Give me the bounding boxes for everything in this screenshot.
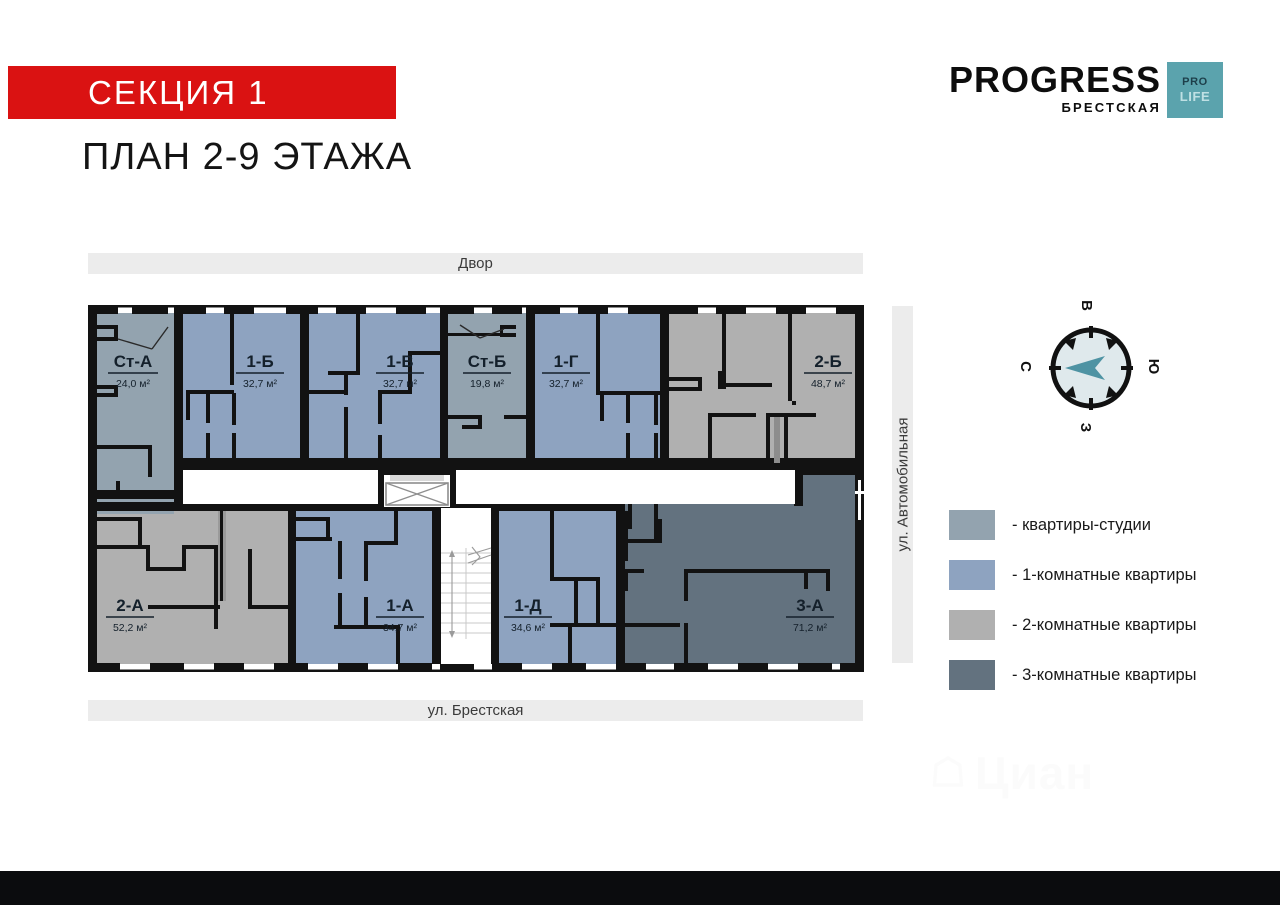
floor-plan-drawing: Ст-А 24,0 м² 1-Б 32,7 м² 1-В 32,7 м² Ст-… [88,305,864,672]
label-1-v-name: 1-В [386,352,413,371]
brand-subtitle: БРЕСТСКАЯ [1061,100,1161,116]
legend-swatch-1room [949,560,995,590]
label-st-b-name: Ст-Б [468,352,506,371]
legend-item-studio: - квартиры-студии [949,509,1249,541]
label-1-a-area: 34,7 м² [383,622,418,634]
prolife-badge-pro: PRO [1182,76,1208,89]
legend-swatch-2room [949,610,995,640]
prolife-badge-life: LIFE [1180,89,1211,104]
brand-name: PROGRESS [949,62,1161,98]
section-badge-label: СЕКЦИЯ 1 [88,74,269,112]
courtyard-band: Двор [88,253,863,274]
label-2-a-area: 52,2 м² [113,622,148,634]
label-st-b-area: 19,8 м² [470,378,505,390]
legend-label-2room: - 2-комнатные квартиры [1012,616,1197,635]
legend-swatch-studio [949,510,995,540]
compass-label-south: Ю [1145,359,1162,374]
brestskaya-street-band: ул. Брестская [88,700,863,721]
label-1-d-name: 1-Д [514,596,541,615]
label-1-b-name: 1-Б [246,352,273,371]
watermark: ☖ Циан [930,735,1230,810]
floorplan-page: СЕКЦИЯ 1 ПЛАН 2-9 ЭТАЖА PROGRESS БРЕСТСК… [0,0,1280,905]
bottom-bar [0,871,1280,905]
label-st-a-area: 24,0 м² [116,378,151,390]
avtomobilnaya-street-band: ул. Автомобильная [892,306,913,663]
legend-label-1room: - 1-комнатные квартиры [1012,566,1197,585]
brestskaya-street-label: ул. Брестская [428,702,524,719]
legend-swatch-3room [949,660,995,690]
staircase [441,508,491,664]
compass-rose [1043,320,1139,416]
brand-logo-text: PROGRESS БРЕСТСКАЯ [949,62,1161,116]
legend-item-3room: - 3-комнатные квартиры [949,659,1249,691]
label-3-a-name: 3-А [796,596,823,615]
label-1-v-area: 32,7 м² [383,378,418,390]
label-st-a-name: Ст-А [114,352,153,371]
compass-label-east: В [1078,300,1095,311]
page-title: ПЛАН 2-9 ЭТАЖА [82,136,412,179]
avtomobilnaya-street-label: ул. Автомобильная [894,418,911,552]
watermark-icon: ☖ [930,750,967,796]
section-badge: СЕКЦИЯ 1 [8,66,396,119]
brand-logo: PROGRESS БРЕСТСКАЯ PRO LIFE [949,62,1223,120]
compass-label-north: С [1017,361,1034,372]
legend-item-2room: - 2-комнатные квартиры [949,609,1249,641]
label-1-g-name: 1-Г [554,352,579,371]
legend-label-3room: - 3-комнатные квартиры [1012,666,1197,685]
label-2-a-name: 2-А [116,596,143,615]
label-1-d-area: 34,6 м² [511,622,546,634]
label-3-a-area: 71,2 м² [793,622,828,634]
label-1-b-area: 32,7 м² [243,378,278,390]
compass-label-west: З [1077,423,1094,432]
legend-item-1room: - 1-комнатные квартиры [949,559,1249,591]
label-1-a-name: 1-А [386,596,413,615]
courtyard-label: Двор [458,255,493,272]
label-1-g-area: 32,7 м² [549,378,584,390]
legend: - квартиры-студии - 1-комнатные квартиры… [949,509,1249,709]
prolife-badge: PRO LIFE [1167,62,1223,118]
legend-label-studio: - квартиры-студии [1012,516,1151,535]
watermark-text: Циан [975,746,1094,800]
label-2-b-area: 48,7 м² [811,378,846,390]
label-2-b-name: 2-Б [814,352,841,371]
